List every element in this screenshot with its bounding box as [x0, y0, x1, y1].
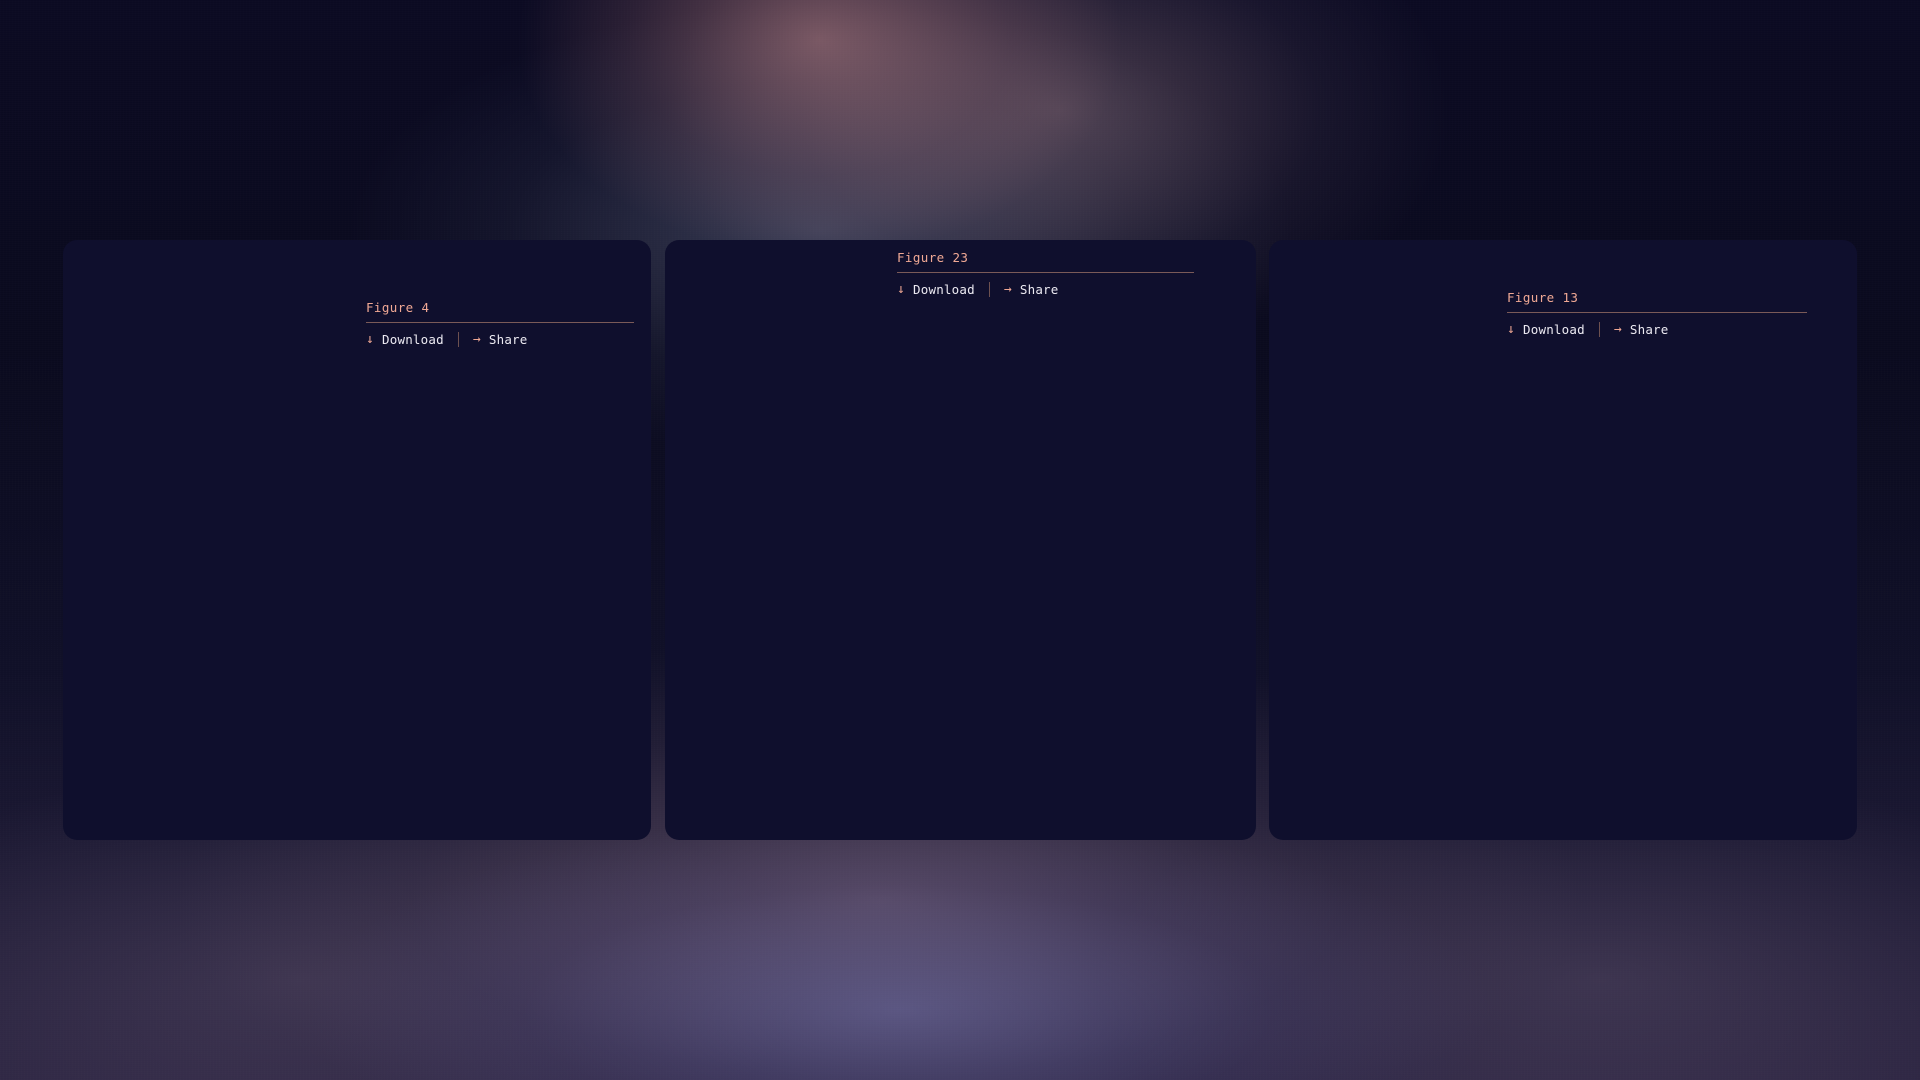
arrow-right-icon: →	[1614, 323, 1622, 336]
arrow-down-icon: ↓	[897, 283, 905, 296]
download-button[interactable]: ↓ Download	[897, 282, 975, 297]
card-3-header: Figure 13 ↓ Download → Share	[1507, 290, 1807, 337]
action-divider	[458, 332, 459, 347]
header-divider	[366, 322, 634, 323]
download-button[interactable]: ↓ Download	[366, 332, 444, 347]
arrow-right-icon: →	[473, 333, 481, 346]
share-button[interactable]: → Share	[1004, 282, 1059, 297]
card-2-header: Figure 23 ↓ Download → Share	[897, 250, 1194, 297]
download-label: Download	[1523, 322, 1585, 337]
page-root: Figure 4 ↓ Download → Share i Annual glo…	[0, 0, 1920, 1080]
figure-label: Figure 23	[897, 250, 1194, 265]
header-divider	[897, 272, 1194, 273]
arrow-down-icon: ↓	[1507, 323, 1515, 336]
download-label: Download	[382, 332, 444, 347]
figure-card-2: Figure 23 ↓ Download → Share	[665, 240, 1256, 840]
card-1-header: Figure 4 ↓ Download → Share	[366, 300, 634, 347]
arrow-down-icon: ↓	[366, 333, 374, 346]
card-2-actions: ↓ Download → Share	[897, 282, 1194, 297]
share-label: Share	[1630, 322, 1669, 337]
card-1-actions: ↓ Download → Share	[366, 332, 634, 347]
download-button[interactable]: ↓ Download	[1507, 322, 1585, 337]
header-divider	[1507, 312, 1807, 313]
figure-card-3: Figure 13 ↓ Download → Share	[1269, 240, 1857, 840]
share-button[interactable]: → Share	[1614, 322, 1669, 337]
card-3-actions: ↓ Download → Share	[1507, 322, 1807, 337]
share-button[interactable]: → Share	[473, 332, 528, 347]
action-divider	[1599, 322, 1600, 337]
action-divider	[989, 282, 990, 297]
share-label: Share	[489, 332, 528, 347]
figure-card-1: Figure 4 ↓ Download → Share	[63, 240, 651, 840]
download-label: Download	[913, 282, 975, 297]
figure-label: Figure 4	[366, 300, 634, 315]
share-label: Share	[1020, 282, 1059, 297]
arrow-right-icon: →	[1004, 283, 1012, 296]
figure-label: Figure 13	[1507, 290, 1807, 305]
